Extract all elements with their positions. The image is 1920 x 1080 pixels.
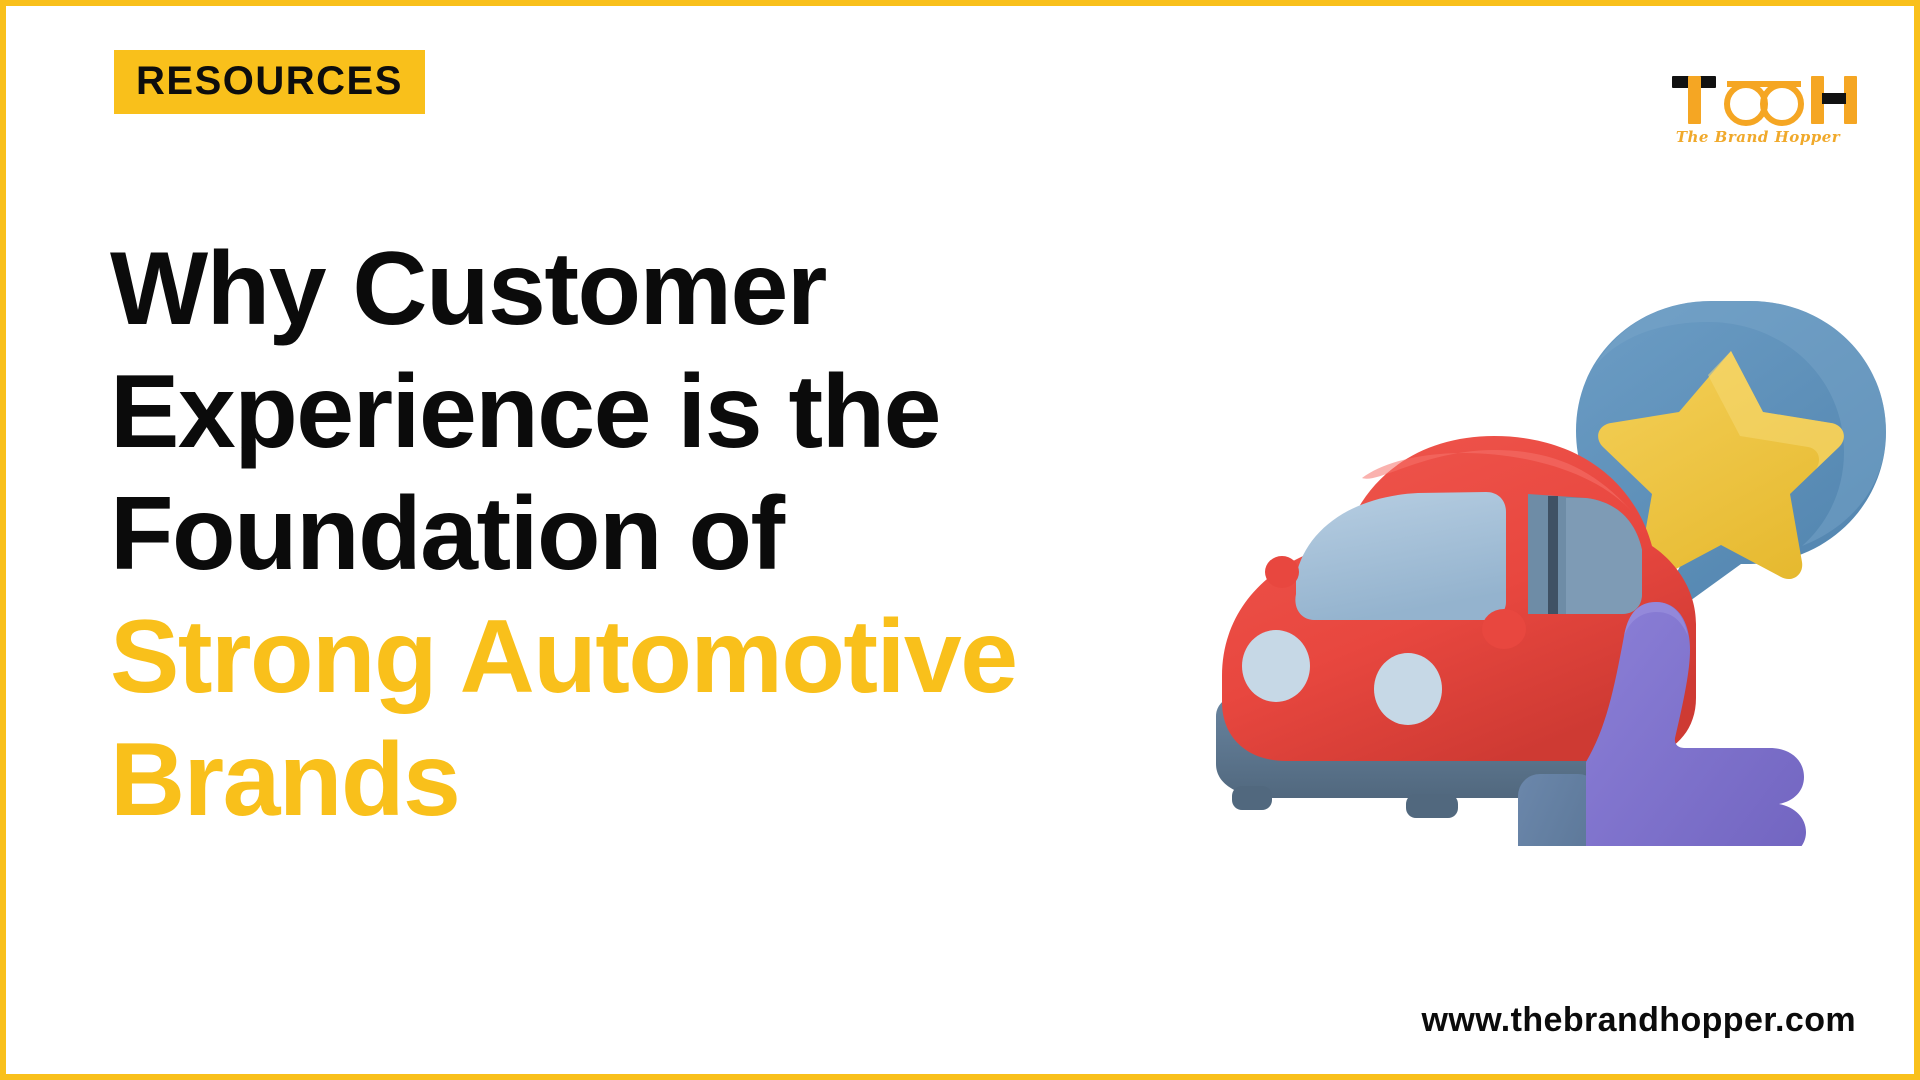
brand-logo-mark xyxy=(1658,62,1858,124)
hero-illustration xyxy=(1156,246,1896,846)
resources-badge-label: RESOURCES xyxy=(136,59,403,103)
brand-logo-tagline: The Brand Hopper xyxy=(1658,128,1858,146)
headline-line-5: Brands xyxy=(110,719,1140,842)
headline-line-4: Strong Automotive xyxy=(110,596,1140,719)
headline-line-2: Experience is the xyxy=(110,351,1140,474)
page-title: Why Customer Experience is the Foundatio… xyxy=(110,228,1140,842)
headline-line-3: Foundation of xyxy=(110,473,1140,596)
headline-line-1: Why Customer xyxy=(110,228,1140,351)
site-url[interactable]: www.thebrandhopper.com xyxy=(1422,1001,1856,1040)
resource-banner: RESOURCES The Brand Hopper Why Customer … xyxy=(0,0,1920,1080)
resources-badge: RESOURCES xyxy=(114,50,425,114)
brand-logo: The Brand Hopper xyxy=(1658,62,1858,146)
